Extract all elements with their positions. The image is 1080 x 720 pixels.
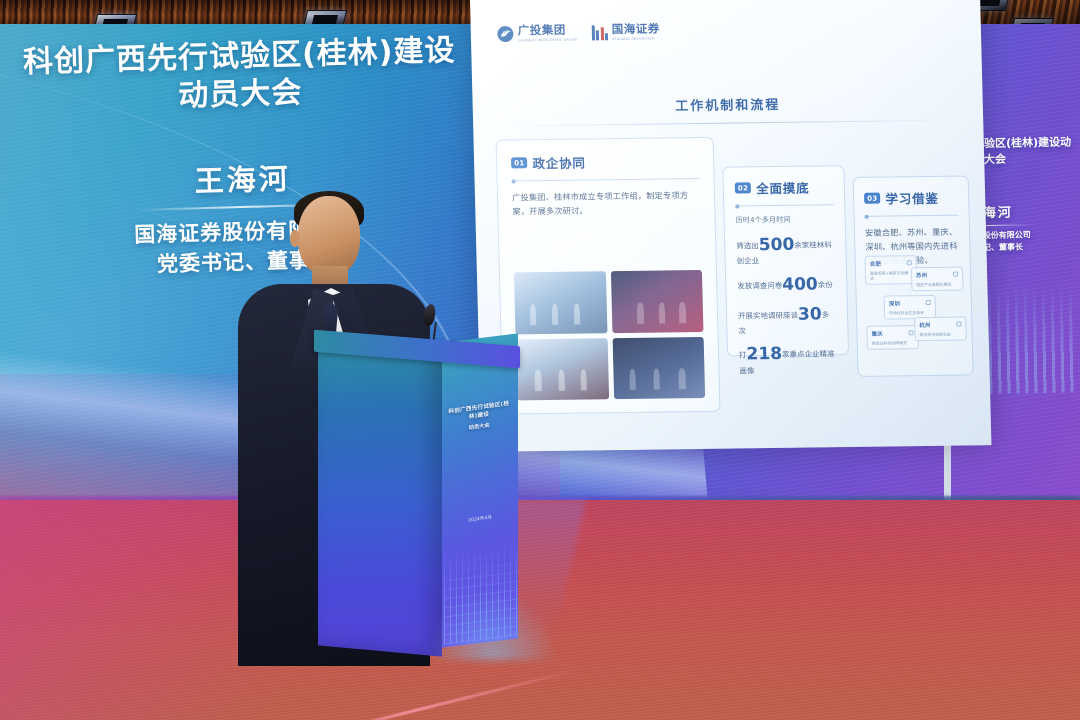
section-03-name: 学习借鉴 [885,188,939,208]
section-03-number: 03 [864,193,881,204]
section-03-city-card-grid: 合肥 基金招商+国资引领模式 苏州 园区产业集群化模式 深圳 市场化科创生态体系 [865,255,964,366]
section-01-photo-grid [514,270,705,400]
section-01-number: 01 [511,157,528,168]
city-card-note: 园区产业集群化模式 [916,281,958,287]
city-card-title: 苏州 [916,271,958,280]
photo-exhibition-2 [610,270,703,333]
city-card: 杭州 数字经济创新生态 [914,317,967,341]
stat-suffix: 余份 [818,280,833,289]
city-card-note: 制造业科创协同模式 [872,340,914,346]
podium-base-glow [428,590,558,660]
podium-front-face [318,340,442,656]
sealand-logo-cn: 国海证券 [612,24,660,36]
section-02-stat-row: 打218家重点企业精准画像 [739,343,838,375]
section-02-stat-row: 开展实地调研座谈30多次 [738,304,837,336]
section-03-head: 03 学习借鉴 [864,188,958,208]
city-card-title: 合肥 [870,259,912,268]
led-event-title: 科创广西先行试验区(桂林)建设动员大会 [13,24,465,121]
guangtou-logo-cn: 广投集团 [518,25,577,37]
city-card: 重庆 制造业科创协同模式 [866,325,919,349]
section-02-number: 02 [735,182,752,193]
city-card-icon [926,299,931,304]
stat-value: 400 [782,274,818,294]
city-card-title: 深圳 [889,299,931,308]
photo-visit-1 [514,271,607,334]
section-03-rule [865,215,959,217]
section-02-stat-row: 发放调查问卷400余份 [737,274,836,297]
guangtou-group-logo: 广投集团 GUANGXI INVESTMENT GROUP [497,25,578,43]
city-card: 苏州 园区产业集群化模式 [911,267,964,291]
section-01-name: 政企协同 [532,152,586,172]
section-02-rule [735,204,833,206]
stat-prefix: 发放调查问卷 [737,280,782,290]
slide-title: 工作机制和流程 [472,91,982,117]
slide-title-divider [507,120,949,127]
photo-meeting-3 [516,338,609,401]
section-02-lead: 历时4个多月时间 [736,214,834,225]
section-02-name: 全面摸底 [756,178,810,198]
city-card-icon [908,330,913,335]
stat-value: 30 [798,304,822,324]
city-card: 深圳 市场化科创生态体系 [884,295,937,319]
city-card: 合肥 基金招商+国资引领模式 [865,255,918,284]
slide-section-02: 02 全面摸底 历时4个多月时间 筛选出500余家桂林科创企业 发放调查问卷40… [722,165,849,357]
stat-value: 218 [746,344,782,364]
city-card-note: 市场化科创生态体系 [889,309,931,315]
city-card-title: 重庆 [871,329,913,338]
slide-section-03: 03 学习借鉴 安徽合肥、苏州、重庆、深圳、杭州等国内先进科创园区模式经验。 合… [853,175,974,376]
section-01-body: 广投集团、桂林市成立专项工作组，制定专项方案，开展多次研讨。 [512,188,701,219]
section-02-head: 02 全面摸底 [735,177,833,197]
scene-root: 科创广西先行试验区(桂林)建设动员大会 王海河 国海证券股份有限公司 党委书记、… [0,0,1080,720]
sealand-securities-logo: 国海证券 SEALAND SECURITIES [592,24,660,42]
sealand-mark-icon [592,25,608,40]
city-card-icon [956,321,961,326]
stat-prefix: 开展实地调研座谈 [738,310,798,320]
section-01-rule [512,178,700,181]
sealand-logo-en: SEALAND SECURITIES [612,37,660,41]
stat-prefix: 筛选出 [736,241,759,250]
slide-section-01: 01 政企协同 广投集团、桂林市成立专项工作组，制定专项方案，开展多次研讨。 [496,137,721,415]
city-card-note: 基金招商+国资引领模式 [870,270,912,281]
stat-value: 500 [759,235,795,255]
section-02-stat-row: 筛选出500余家桂林科创企业 [736,234,835,266]
city-card-icon [953,271,958,276]
speaker-ear [290,230,300,247]
section-01-head: 01 政企协同 [511,151,699,172]
guangtou-logo-en: GUANGXI INVESTMENT GROUP [518,38,577,42]
podium: 科创广西先行试验区(桂林)建设 动员大会 2024年4月 [318,334,518,656]
guangtou-mark-icon [497,25,514,42]
photo-roundtable-4 [612,336,705,399]
city-card-icon [907,260,912,265]
speaker-head [298,196,360,276]
presentation-slide: 广投集团 GUANGXI INVESTMENT GROUP 国海证券 SEALA… [470,0,991,452]
slide-logo-row: 广投集团 GUANGXI INVESTMENT GROUP 国海证券 SEALA… [497,24,660,43]
city-card-title: 杭州 [919,321,961,330]
city-card-note: 数字经济创新生态 [920,331,962,337]
